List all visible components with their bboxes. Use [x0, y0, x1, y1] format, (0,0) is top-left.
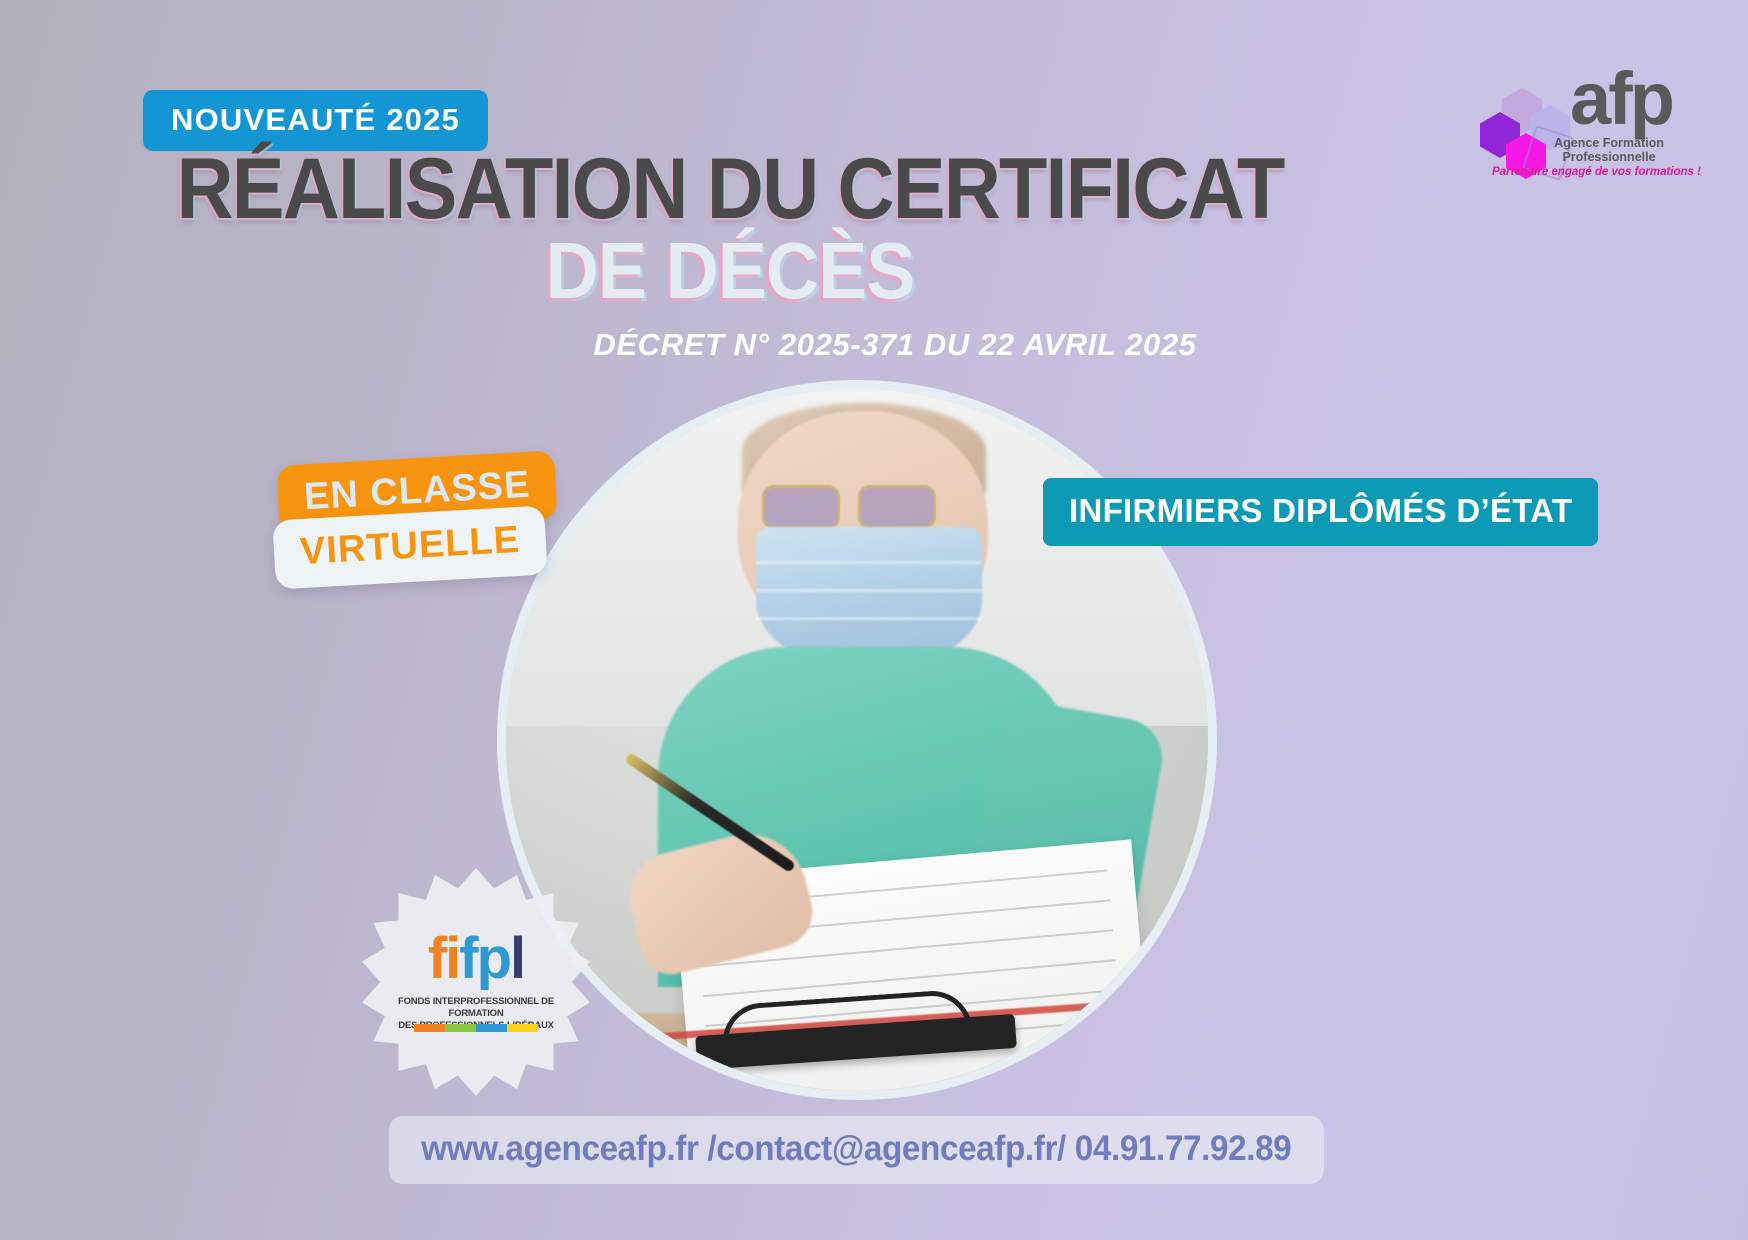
- contact-bar[interactable]: www.agenceafp.fr /contact@agenceafp.fr/ …: [389, 1116, 1324, 1184]
- title-block: RÉALISATION DU CERTIFICAT DE DÉCÈS DÉCRE…: [0, 148, 1460, 363]
- afp-wordmark: afp: [1570, 62, 1672, 136]
- mask-pleat: [756, 617, 982, 620]
- page-subtitle: DE DÉCÈS: [58, 233, 1401, 309]
- page-title: RÉALISATION DU CERTIFICAT: [58, 148, 1401, 231]
- mask-pleat: [756, 589, 982, 592]
- fifpl-wordmark: fifpl: [362, 930, 590, 988]
- photo-glasses-left: [762, 485, 840, 529]
- photo-glasses-right: [858, 485, 936, 529]
- afp-logo: afp Agence Formation Professionnelle Par…: [1474, 58, 1726, 178]
- color-bar-green: [445, 1024, 476, 1032]
- color-bar-yellow: [507, 1024, 538, 1032]
- fifpl-logo: fifpl FONDS INTERPROFESSIONNEL DE FORMAT…: [362, 868, 590, 1096]
- poster-canvas: NOUVEAUTÉ 2025 afp Agence Formation Prof…: [0, 0, 1748, 1240]
- color-bar-blue: [476, 1024, 507, 1032]
- fifpl-color-bars: [414, 1024, 538, 1032]
- fifpl-fi: fi: [428, 926, 459, 991]
- mask-pleat: [756, 561, 982, 564]
- fifpl-l: l: [510, 926, 524, 991]
- badge-audience: INFIRMIERS DIPLÔMÉS D’ÉTAT: [1043, 478, 1598, 546]
- fifpl-p: p: [477, 926, 510, 991]
- afp-tagline: Partenaire engagé de vos formations !: [1492, 166, 1701, 178]
- fifpl-f: f: [459, 926, 476, 991]
- fifpl-subtitle-line1: FONDS INTERPROFESSIONNEL DE FORMATION: [386, 996, 566, 1020]
- afp-subtitle: Agence Formation Professionnelle: [1534, 136, 1684, 165]
- decree-reference: DÉCRET N° 2025-371 DU 22 AVRIL 2025: [0, 327, 1460, 363]
- color-bar-orange: [414, 1024, 445, 1032]
